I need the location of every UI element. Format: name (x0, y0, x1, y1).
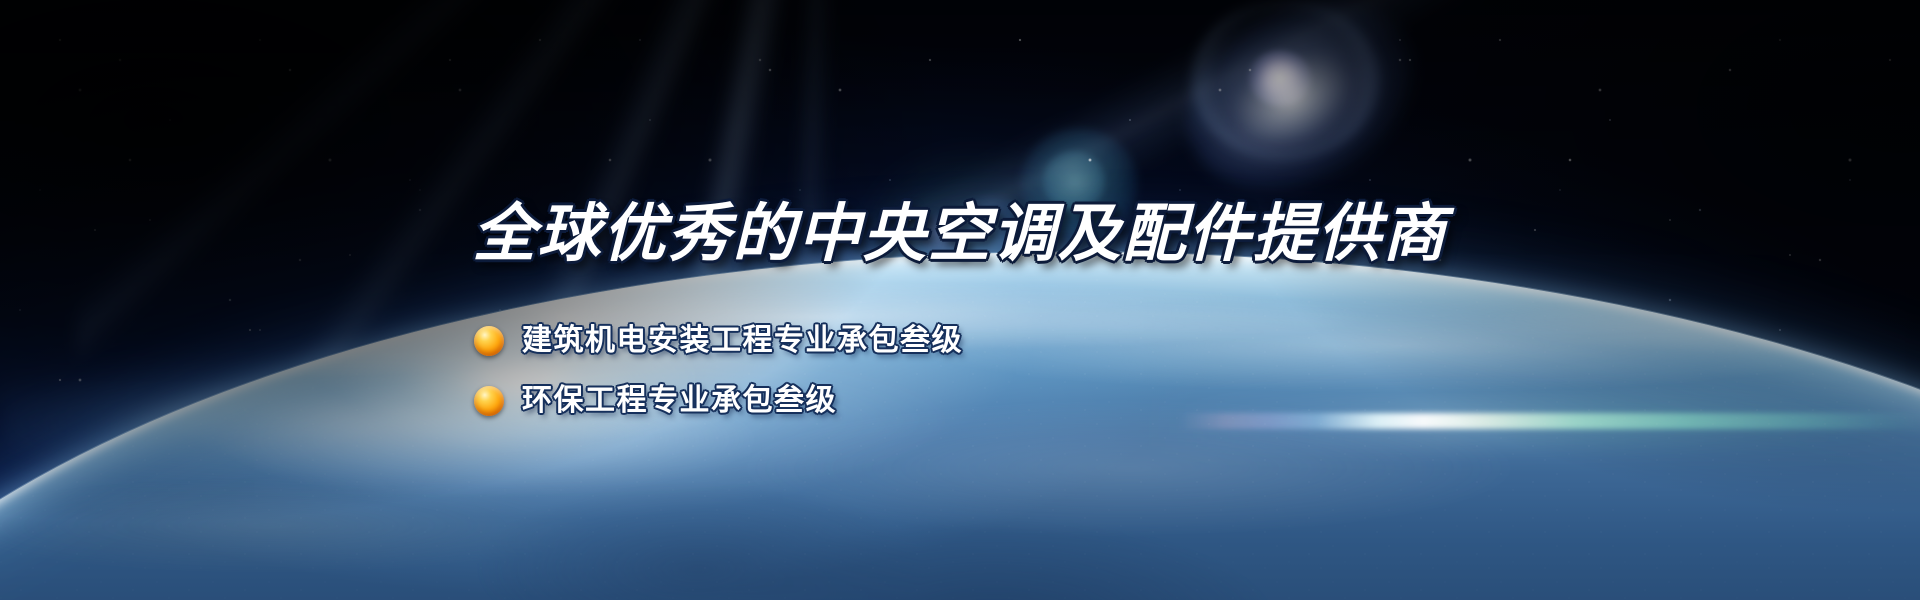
orange-dot-icon (474, 386, 504, 416)
certification-label: 环保工程专业承包叁级 (522, 386, 837, 416)
certification-list: 建筑机电安装工程专业承包叁级 环保工程专业承包叁级 (474, 312, 1374, 432)
banner-headline: 全球优秀的中央空调及配件提供商 (0, 203, 1920, 266)
banner-content: 全球优秀的中央空调及配件提供商 建筑机电安装工程专业承包叁级 环保工程专业承包叁… (0, 0, 1920, 600)
list-item: 环保工程专业承包叁级 (474, 372, 1374, 430)
certification-label: 建筑机电安装工程专业承包叁级 (522, 326, 963, 356)
orange-dot-icon (474, 326, 504, 356)
hero-banner: 全球优秀的中央空调及配件提供商 建筑机电安装工程专业承包叁级 环保工程专业承包叁… (0, 0, 1920, 600)
list-item: 建筑机电安装工程专业承包叁级 (474, 312, 1374, 370)
